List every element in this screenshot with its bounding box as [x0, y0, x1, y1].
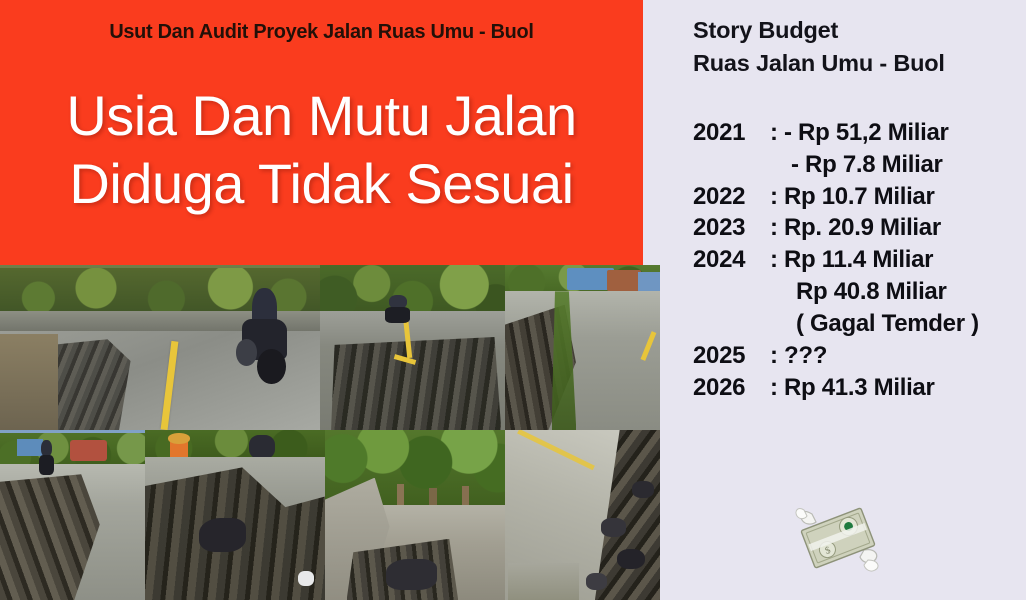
right-edge-strip	[1020, 0, 1026, 600]
money-with-wings-icon: $	[790, 498, 886, 580]
headline-line-2: Diduga Tidak Sesuai	[0, 150, 643, 218]
budget-row: 2021 : - Rp 51,2 Miliar	[693, 117, 1026, 149]
red-headline-banner: Usut Dan Audit Proyek Jalan Ruas Umu - B…	[0, 0, 643, 265]
budget-year: 2023	[693, 212, 770, 244]
photo-motorcyclist-on-patched-road	[0, 265, 320, 430]
budget-row: 2022 : Rp 10.7 Miliar	[693, 181, 1026, 213]
budget-year: 2024	[693, 244, 770, 276]
budget-separator: :	[770, 181, 784, 213]
budget-amount: Rp 41.3 Miliar	[784, 372, 935, 404]
budget-amount: Rp 11.4 Miliar	[784, 244, 933, 276]
budget-year: 2026	[693, 372, 770, 404]
left-column: Usut Dan Audit Proyek Jalan Ruas Umu - B…	[0, 0, 660, 600]
budget-row: 2024 : Rp 11.4 Miliar	[693, 244, 1026, 276]
photo-eroded-road-near-houses	[505, 265, 660, 430]
budget-separator: :	[770, 244, 784, 276]
infographic-canvas: Usut Dan Audit Proyek Jalan Ruas Umu - B…	[0, 0, 1026, 600]
budget-amount: ???	[784, 340, 827, 372]
budget-separator: :	[770, 340, 784, 372]
budget-row: ( Gagal Temder )	[693, 308, 1026, 340]
budget-separator: :	[770, 212, 784, 244]
budget-row: Rp 40.8 Miliar	[693, 276, 1026, 308]
sidebar-title-line-2: Ruas Jalan Umu - Buol	[693, 47, 1026, 80]
budget-amount: Rp. 20.9 Miliar	[784, 212, 941, 244]
budget-year: 2022	[693, 181, 770, 213]
budget-separator: :	[770, 372, 784, 404]
story-budget-sidebar: Story Budget Ruas Jalan Umu - Buol 2021 …	[660, 0, 1026, 600]
budget-year: 2025	[693, 340, 770, 372]
sidebar-title-line-1: Story Budget	[693, 14, 1026, 47]
budget-note: ( Gagal Temder )	[784, 308, 979, 340]
photo-collage	[0, 265, 660, 600]
budget-separator: :	[770, 117, 784, 149]
photo-worker-beside-broken-asphalt	[145, 430, 325, 600]
budget-row: - Rp 7.8 Miliar	[693, 149, 1026, 181]
photo-collapsed-road-edge-with-rubble	[505, 430, 660, 600]
collage-row-bottom	[0, 430, 660, 600]
photo-damaged-road-through-trees	[325, 430, 505, 600]
budget-amount: Rp 10.7 Miliar	[784, 181, 935, 213]
budget-row: 2023 : Rp. 20.9 Miliar	[693, 212, 1026, 244]
kicker-text: Usut Dan Audit Proyek Jalan Ruas Umu - B…	[10, 20, 634, 44]
photo-gravel-road-with-rider	[0, 430, 145, 600]
collage-row-top	[0, 265, 660, 430]
budget-row: 2026 : Rp 41.3 Miliar	[693, 372, 1026, 404]
budget-row: 2025 : ???	[693, 340, 1026, 372]
photo-pothole-stretch-with-rider	[320, 265, 505, 430]
budget-list: 2021 : - Rp 51,2 Miliar - Rp 7.8 Miliar …	[693, 117, 1026, 404]
budget-amount: - Rp 7.8 Miliar	[784, 149, 943, 181]
headline-line-1: Usia Dan Mutu Jalan	[0, 82, 643, 150]
budget-amount: Rp 40.8 Miliar	[784, 276, 947, 308]
page-title: Usia Dan Mutu Jalan Diduga Tidak Sesuai	[0, 82, 643, 219]
budget-year: 2021	[693, 117, 770, 149]
budget-amount: - Rp 51,2 Miliar	[784, 117, 949, 149]
